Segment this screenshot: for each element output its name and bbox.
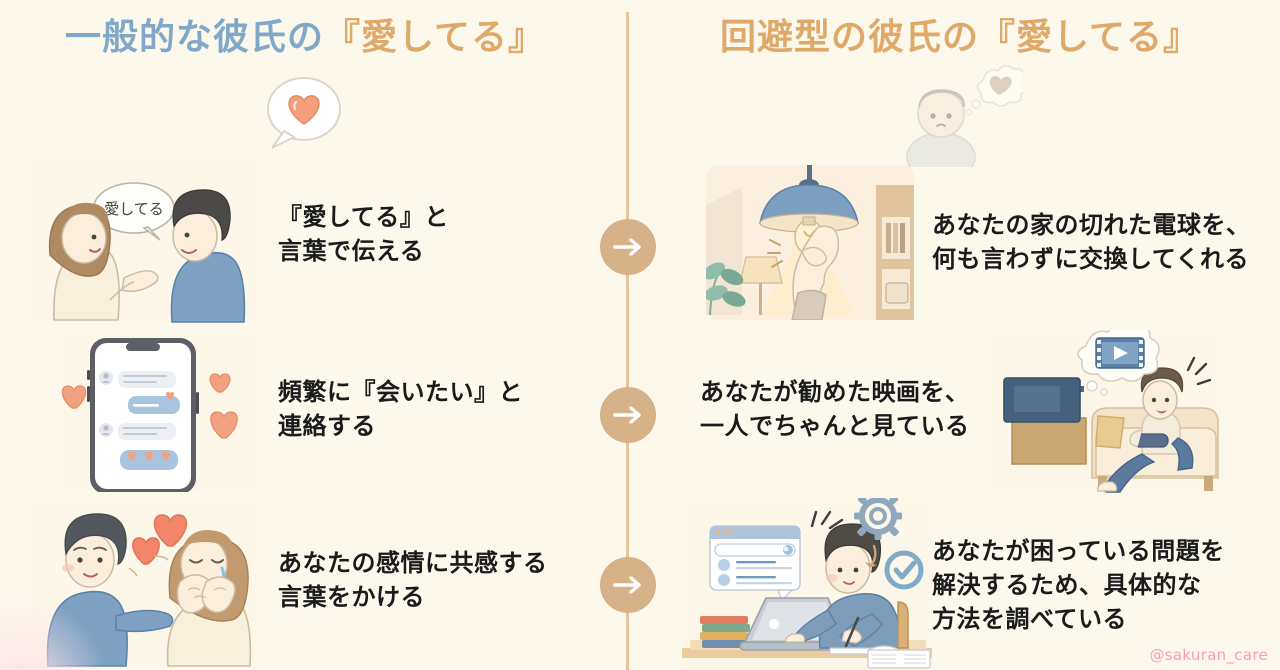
caption-line: 連絡する [278, 409, 598, 443]
speech-bubble-text: 愛してる [104, 200, 164, 218]
laptop-research-illustration [682, 498, 932, 670]
couple-talking-illustration: 愛してる [32, 160, 262, 325]
page-title-right-plain: 回避型の彼氏の [720, 17, 979, 58]
caption-row-1-left: 『愛してる』と 言葉で伝える [278, 200, 598, 268]
smartphone-chat-illustration [60, 330, 260, 492]
page-title-right: 回避型の彼氏の『愛してる』 [650, 8, 1270, 60]
caption-row-1-right: あなたの家の切れた電球を、 何も言わずに交換してくれる [932, 208, 1280, 276]
page-title-right-quoted: 『愛してる』 [979, 17, 1200, 58]
caption-line: あなたの感情に共感する [278, 546, 598, 580]
comparison-row-2: 頻繁に『会いたい』と 連絡する あなたが勧めた映画を、 一人でちゃんと見ている [0, 330, 1280, 498]
caption-line: あなたが困っている問題を [932, 534, 1280, 568]
page-title-left: 一般的な彼氏の『愛してる』 [0, 8, 610, 60]
comparison-row-1: 愛してる 『愛してる』と 言葉で伝える [0, 160, 1280, 328]
caption-line: 一人でちゃんと見ている [700, 409, 1020, 443]
caption-line: 言葉をかける [278, 580, 598, 614]
caption-line: 何も言わずに交換してくれる [932, 242, 1280, 276]
caption-line: 『愛してる』と [278, 200, 598, 234]
page-title-left-quoted: 『愛してる』 [324, 17, 545, 58]
caption-line: 言葉で伝える [278, 234, 598, 268]
caption-line: 方法を調べている [932, 602, 1280, 636]
caption-row-3-right: あなたが困っている問題を 解決するため、具体的な 方法を調べている [932, 534, 1280, 636]
caption-line: 解決するため、具体的な [932, 568, 1280, 602]
caption-line: あなたの家の切れた電球を、 [932, 208, 1280, 242]
man-watching-movie-illustration [992, 330, 1222, 495]
heart-speech-bubble-icon [258, 74, 346, 154]
comparison-row-3: あなたの感情に共感する 言葉をかける [0, 498, 1280, 670]
light-bulb-replacement-illustration [706, 165, 914, 320]
caption-row-2-left: 頻繁に『会いたい』と 連絡する [278, 375, 598, 443]
person-thought-heart-icon [893, 62, 1023, 167]
caption-line: あなたが勧めた映画を、 [700, 375, 1020, 409]
comforting-couple-illustration [32, 498, 262, 668]
caption-row-2-right: あなたが勧めた映画を、 一人でちゃんと見ている [700, 375, 1020, 443]
watermark-handle: @sakuran_care [1149, 646, 1268, 664]
caption-line: 頻繁に『会いたい』と [278, 375, 598, 409]
caption-row-3-left: あなたの感情に共感する 言葉をかける [278, 546, 598, 614]
page-title-left-plain: 一般的な彼氏の [65, 17, 324, 58]
infographic-canvas: 一般的な彼氏の『愛してる』 回避型の彼氏の『愛してる』 [0, 0, 1280, 670]
